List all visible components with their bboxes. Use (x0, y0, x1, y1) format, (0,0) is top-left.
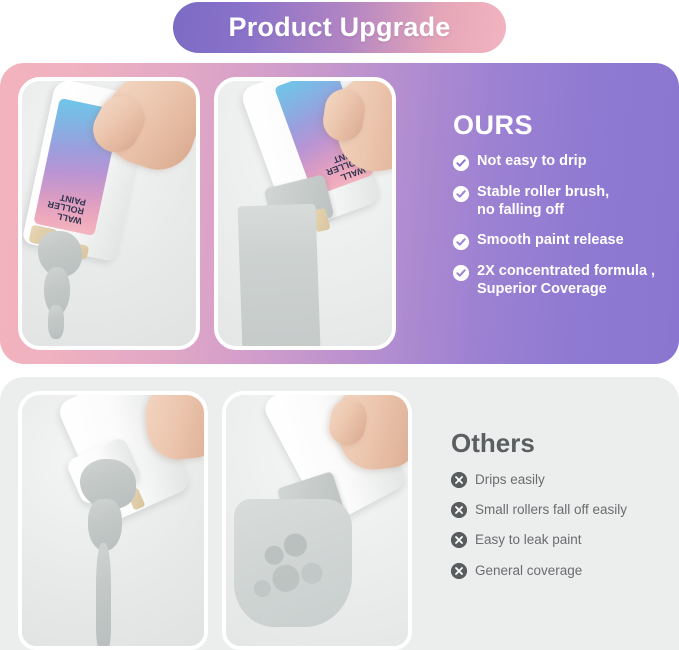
others-content: Others Drips easily Small rollers fall o… (451, 428, 677, 593)
product-comparison-infographic: Product Upgrade WALLROLLERPAINT (0, 0, 679, 650)
check-circle-icon (453, 265, 469, 281)
ours-content: OURS Not easy to drip Stable roller brus… (453, 110, 675, 312)
others-photo-2 (222, 391, 412, 650)
check-circle-icon (453, 186, 469, 202)
others-drawback-label: Easy to leak paint (475, 532, 582, 548)
ours-photo-1: WALLROLLERPAINT (18, 77, 200, 350)
list-item: General coverage (451, 563, 677, 579)
x-circle-icon (451, 502, 467, 518)
others-panel: Others Drips easily Small rollers fall o… (0, 377, 679, 650)
paint-blotchy-patch (234, 499, 352, 627)
list-item: 2X concentrated formula , Superior Cover… (453, 263, 675, 298)
ours-panel: WALLROLLERPAINT (0, 63, 679, 364)
others-drawback-list: Drips easily Small rollers fall off easi… (451, 472, 677, 579)
banner-title: Product Upgrade (228, 12, 450, 43)
ours-feature-list: Not easy to drip Stable roller brush, no… (453, 153, 675, 299)
paint-long-drip (96, 543, 111, 646)
ours-feature-label: 2X concentrated formula , Superior Cover… (477, 263, 655, 298)
others-photo-1 (18, 391, 208, 650)
others-heading: Others (451, 428, 677, 459)
ours-feature-label: Stable roller brush, no falling off (477, 184, 609, 219)
paint-drip-tail (48, 305, 64, 339)
others-drawback-label: Drips easily (475, 472, 545, 488)
ours-heading: OURS (453, 110, 675, 141)
ours-feature-label: Not easy to drip (477, 153, 587, 171)
others-drawback-label: Small rollers fall off easily (475, 502, 627, 518)
list-item: Drips easily (451, 472, 677, 488)
title-banner: Product Upgrade (173, 2, 506, 53)
list-item: Easy to leak paint (451, 532, 677, 548)
others-drawback-label: General coverage (475, 563, 582, 579)
check-circle-icon (453, 155, 469, 171)
ours-feature-label: Smooth paint release (477, 232, 624, 250)
check-circle-icon (453, 234, 469, 250)
list-item: Stable roller brush, no falling off (453, 184, 675, 219)
list-item: Small rollers fall off easily (451, 502, 677, 518)
paint-stripe (237, 204, 320, 346)
x-circle-icon (451, 472, 467, 488)
x-circle-icon (451, 563, 467, 579)
list-item: Not easy to drip (453, 153, 675, 171)
x-circle-icon (451, 532, 467, 548)
list-item: Smooth paint release (453, 232, 675, 250)
ours-photo-2: WALLROLLERPAINT (214, 77, 396, 350)
